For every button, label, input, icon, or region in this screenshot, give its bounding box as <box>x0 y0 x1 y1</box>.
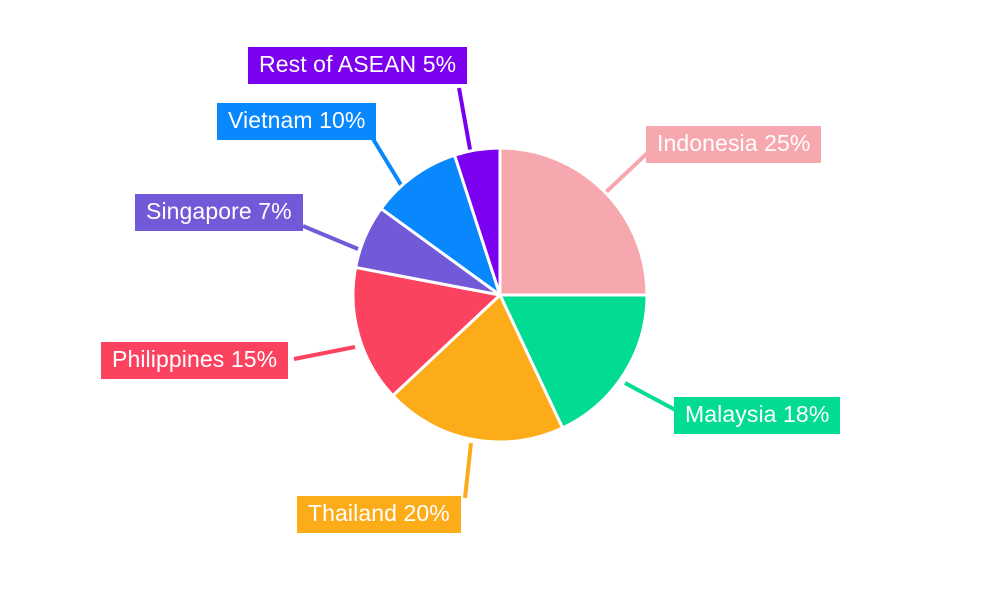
pie-slice-group <box>353 148 647 442</box>
pie-label-vietnam[interactable]: Vietnam 10% <box>217 103 376 140</box>
pie-label-thailand[interactable]: Thailand 20% <box>297 496 461 533</box>
pie-label-rest-of-asean[interactable]: Rest of ASEAN 5% <box>248 47 467 84</box>
pie-slice-indonesia[interactable] <box>500 148 647 295</box>
pie-label-malaysia[interactable]: Malaysia 18% <box>674 397 840 434</box>
leader-line-thailand <box>465 443 471 498</box>
pie-chart-figure: Indonesia 25%Malaysia 18%Thailand 20%Phi… <box>0 0 1000 600</box>
leader-line-vietnam <box>370 134 406 193</box>
pie-label-singapore[interactable]: Singapore 7% <box>135 194 303 231</box>
pie-label-philippines[interactable]: Philippines 15% <box>101 342 288 379</box>
pie-label-indonesia[interactable]: Indonesia 25% <box>646 126 821 163</box>
pie-chart-canvas <box>0 0 1000 600</box>
leader-line-philippines <box>294 347 355 359</box>
leader-line-singapore <box>303 226 358 249</box>
